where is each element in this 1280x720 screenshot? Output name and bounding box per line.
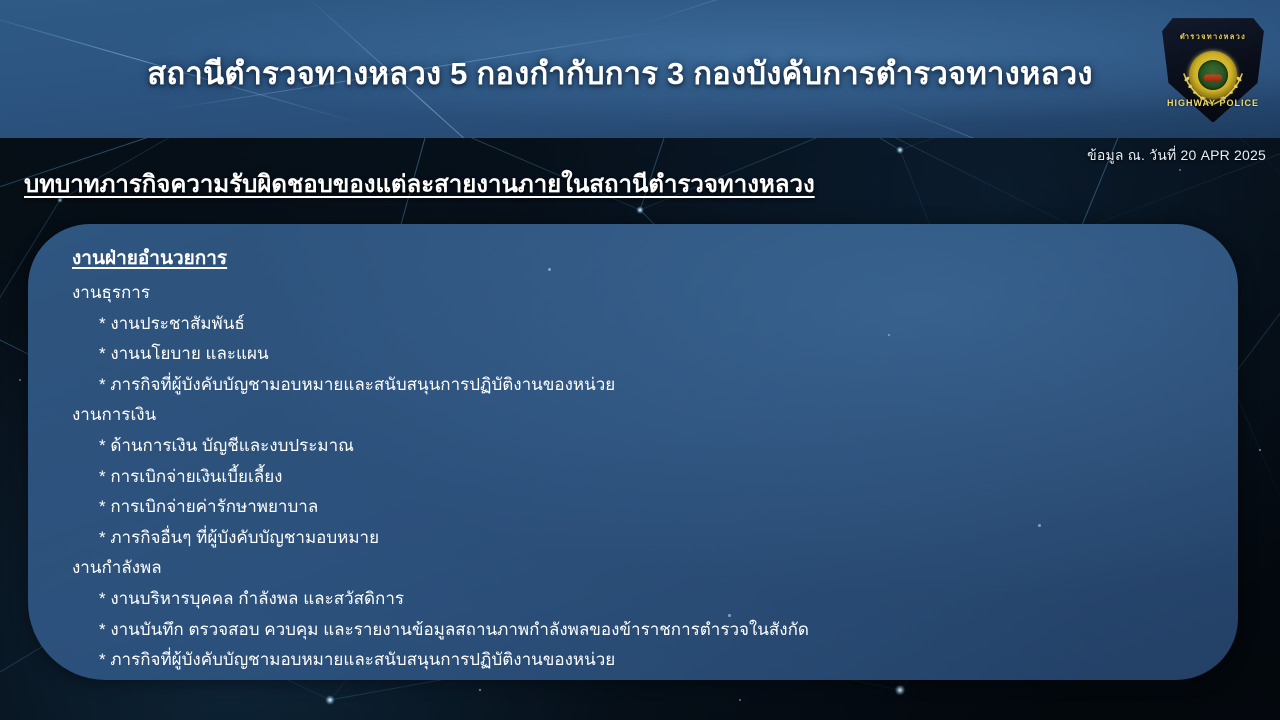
list-item: * ภารกิจอื่นๆ ที่ผู้บังคับบัญชามอบหมาย [72,523,1198,554]
list-item: * งานนโยบาย และแผน [72,339,1198,370]
badge-bottom-label: HIGHWAY POLICE [1160,98,1266,108]
list-item: * งานบันทึก ตรวจสอบ ควบคุม และรายงานข้อม… [72,615,1198,646]
badge-emblem-icon [1189,51,1237,99]
header-band: สถานีตำรวจทางหลวง 5 กองกำกับการ 3 กองบัง… [0,0,1280,138]
slide-root: สถานีตำรวจทางหลวง 5 กองกำกับการ 3 กองบัง… [0,0,1280,720]
list-item: * การเบิกจ่ายค่ารักษาพยาบาล [72,492,1198,523]
list-item: งานการเงิน [72,400,1198,431]
group-title: งานฝ่ายอำนวยการ [72,244,1198,274]
page-title: สถานีตำรวจทางหลวง 5 กองกำกับการ 3 กองบัง… [0,48,1280,98]
list-item: * งานประชาสัมพันธ์ [72,309,1198,340]
list-item: * ด้านการเงิน บัญชีและงบประมาณ [72,431,1198,462]
highway-police-badge: ตำรวจทางหลวง HIGHWAY POLICE [1160,16,1266,124]
responsibility-list: งานธุรการ* งานประชาสัมพันธ์* งานนโยบาย แ… [72,278,1198,676]
data-as-of-date: ข้อมูล ณ. วันที่ 20 APR 2025 [1087,145,1266,167]
list-item: * ภารกิจที่ผู้บังคับบัญชามอบหมายและสนับส… [72,645,1198,676]
list-item: งานธุรการ [72,278,1198,309]
list-item: งานกำลังพล [72,553,1198,584]
list-item: * การเบิกจ่ายเงินเบี้ยเลี้ยง [72,462,1198,493]
list-item: * ภารกิจที่ผู้บังคับบัญชามอบหมายและสนับส… [72,370,1198,401]
badge-top-label: ตำรวจทางหลวง [1160,31,1266,43]
list-item: * งานบริหารบุคคล กำลังพล และสวัสดิการ [72,584,1198,615]
section-heading: บทบาทภารกิจความรับผิดชอบของแต่ละสายงานภา… [24,164,815,203]
content-card: งานฝ่ายอำนวยการ งานธุรการ* งานประชาสัมพั… [28,224,1238,680]
card-body: งานฝ่ายอำนวยการ งานธุรการ* งานประชาสัมพั… [72,244,1198,676]
